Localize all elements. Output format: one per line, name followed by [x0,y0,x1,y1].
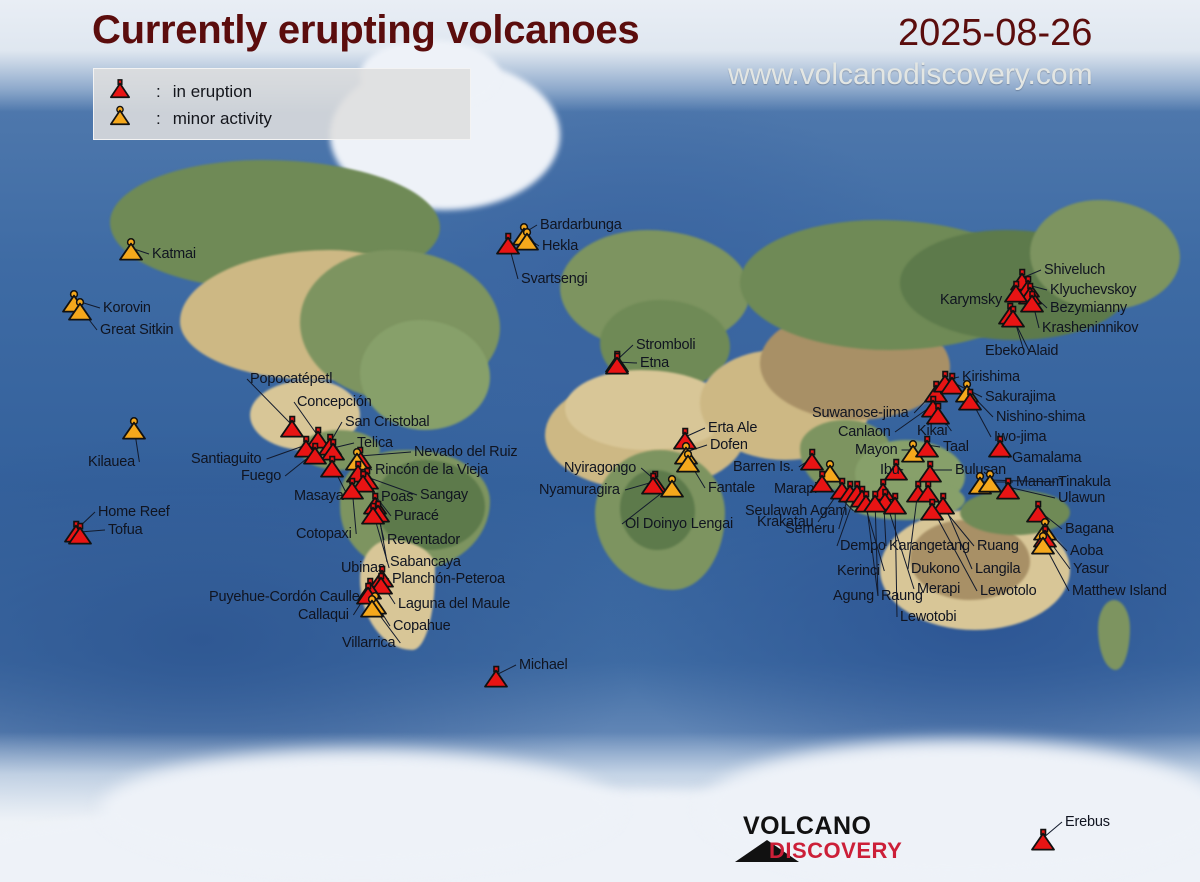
volcano-label-sangay: Sangay [420,488,468,503]
volcano-label-tinakula: Tinakula [1058,475,1111,490]
volcano-label-klyuchevskoy: Klyuchevskoy [1050,283,1136,298]
volcano-marker-ulawun[interactable] [995,477,1021,501]
volcano-marker-ubinas[interactable] [360,502,386,526]
volcano-label-stromboli: Stromboli [636,338,695,353]
volcano-red-icon [108,78,132,105]
legend-item-minor-activity: : minor activity [108,105,272,132]
volcano-label-etna: Etna [640,356,669,371]
volcano-marker-katmai[interactable] [118,238,144,262]
volcano-label-hekla: Hekla [542,239,578,254]
volcano-label-great-sitkin: Great Sitkin [100,323,173,338]
volcano-label-barren-is-: Barren Is. [733,460,794,475]
volcanodiscovery-logo: VOLCANO DISCOVERY [735,812,905,868]
volcano-label-shiveluch: Shiveluch [1044,263,1105,278]
legend-item-in-eruption: : in eruption [108,78,252,105]
volcano-marker-svartsengi[interactable] [495,232,521,256]
volcano-label-fuego: Fuego [241,469,281,484]
volcano-label-gamalama: Gamalama [1012,451,1081,466]
volcano-label-ruang: Ruang [977,539,1019,554]
volcano-label-karymsky: Karymsky [940,293,1002,308]
volcano-label-merapi: Merapi [917,582,960,597]
volcano-label-nishino-shima: Nishino-shima [996,410,1085,425]
legend-separator: : [156,82,161,102]
volcano-label-lewotolo: Lewotolo [980,584,1036,599]
volcano-label-katmai: Katmai [152,247,196,262]
volcano-marker-taal[interactable] [914,435,940,459]
volcano-label-popocat-petl: Popocatépetl [250,372,332,387]
volcano-label-nevado-del-ruiz: Nevado del Ruiz [414,445,517,460]
volcano-label-nyiragongo: Nyiragongo [564,461,636,476]
volcano-label-santiaguito: Santiaguito [191,452,261,467]
volcano-label-copahue: Copahue [393,619,450,634]
volcano-label-sakurajima: Sakurajima [985,390,1056,405]
logo-primary-text: VOLCANO [743,812,872,841]
volcano-label-dukono: Dukono [911,562,960,577]
volcano-marker-erebus[interactable] [1030,828,1056,852]
logo-secondary-text: DISCOVERY [769,838,902,864]
volcano-label-nyamuragira: Nyamuragira [539,483,620,498]
volcano-label-planch-n-peteroa: Planchón-Peteroa [392,572,505,587]
legend-separator: : [156,109,161,129]
volcano-label-erebus: Erebus [1065,815,1110,830]
volcano-label-langila: Langila [975,562,1020,577]
volcano-label-fantale: Fantale [708,481,755,496]
volcano-label-ulawun: Ulawun [1058,491,1105,506]
volcano-label-ol-doinyo-lengai: Ol Doinyo Lengai [625,517,733,532]
volcano-marker-tofua[interactable] [67,522,93,546]
volcano-marker-great-sitkin[interactable] [67,298,93,322]
volcano-label-purac-: Puracé [394,509,439,524]
volcano-label-semeru: Semeru [785,522,835,537]
volcano-marker-matthew-island[interactable] [1030,532,1056,556]
volcano-label-svartsengi: Svartsengi [521,272,588,287]
volcano-label-laguna-del-maule: Laguna del Maule [398,597,510,612]
volcano-label-yasur: Yasur [1073,562,1109,577]
volcano-label-kilauea: Kilauea [88,455,135,470]
volcano-label-puyehue-cord-n-caulle: Puyehue-Cordón Caulle [209,590,360,605]
volcano-label-michael: Michael [519,658,568,673]
volcano-label-erta-ale: Erta Ale [708,421,757,436]
map-legend: : in eruption : minor activity [93,68,471,140]
website-url: www.volcanodiscovery.com [728,58,1093,92]
volcano-label-dempo: Dempo [840,539,886,554]
volcano-label-bardarbunga: Bardarbunga [540,218,622,233]
volcano-label-dofen: Dofen [710,438,748,453]
volcano-marker-etna[interactable] [604,352,630,376]
volcano-label-lewotobi: Lewotobi [900,610,956,625]
volcano-label-tofua: Tofua [108,523,142,538]
volcano-label-canlaon: Canlaon [838,425,891,440]
map-date: 2025-08-26 [898,12,1092,55]
volcano-marker-kilauea[interactable] [121,417,147,441]
volcano-label-bezymianny: Bezymianny [1050,301,1127,316]
volcano-marker-alaid[interactable] [1000,305,1026,329]
volcano-marker-masaya[interactable] [319,455,345,479]
volcano-marker-iwo-jima[interactable] [957,388,983,412]
volcano-marker-bulusan[interactable] [917,460,943,484]
volcano-label-taal: Taal [943,440,969,455]
volcano-label-ebeko: Ebeko [985,344,1025,359]
volcano-label-suwanose-jima: Suwanose-jima [812,406,909,421]
volcano-label-raung: Raung [881,589,923,604]
volcano-world-map: KatmaiKorovinGreat SitkinKilaueaHome Ree… [0,0,1200,882]
volcano-marker-lewotolo[interactable] [919,498,945,522]
volcano-label-masaya: Masaya [294,489,344,504]
volcano-label-concepci-n: Concepción [297,395,372,410]
legend-label-in-eruption: in eruption [173,82,252,102]
volcano-marker-villarrica[interactable] [359,595,385,619]
volcano-label-ibu: Ibu [880,463,900,478]
volcano-label-kerinci: Kerinci [837,564,880,579]
volcano-label-korovin: Korovin [103,301,151,316]
volcano-label-matthew-island: Matthew Island [1072,584,1167,599]
volcano-label-bagana: Bagana [1065,522,1114,537]
volcano-label-rinc-n-de-la-vieja: Rincón de la Vieja [375,463,488,478]
volcano-orange-icon [108,105,132,132]
volcano-marker-ol-doinyo-lengai[interactable] [659,475,685,499]
volcano-label-manam: Manam [1016,475,1063,490]
volcano-label-karangetang: Karangetang [889,539,970,554]
volcano-marker-fantale[interactable] [675,450,701,474]
volcano-label-callaqui: Callaqui [298,608,349,623]
volcano-label-sabancaya: Sabancaya [390,555,461,570]
volcano-marker-kikai[interactable] [925,402,951,426]
volcano-label-villarrica: Villarrica [342,636,395,651]
volcano-label-reventador: Reventador [387,533,460,548]
volcano-label-home-reef: Home Reef [98,505,170,520]
volcano-label-cotopaxi: Cotopaxi [296,527,352,542]
volcano-label-aoba: Aoba [1070,544,1103,559]
volcano-marker-gamalama[interactable] [987,435,1013,459]
volcano-marker-michael[interactable] [483,665,509,689]
volcano-marker-lewotobi[interactable] [882,492,908,516]
volcano-label-alaid: Alaid [1027,344,1058,359]
page-title: Currently erupting volcanoes [92,8,639,53]
volcano-label-krasheninnikov: Krasheninnikov [1042,321,1138,336]
legend-label-minor-activity: minor activity [173,109,272,129]
volcano-label-san-cristobal: San Cristobal [345,415,429,430]
volcano-label-agung: Agung [833,589,874,604]
volcano-label-mayon: Mayon [855,443,898,458]
